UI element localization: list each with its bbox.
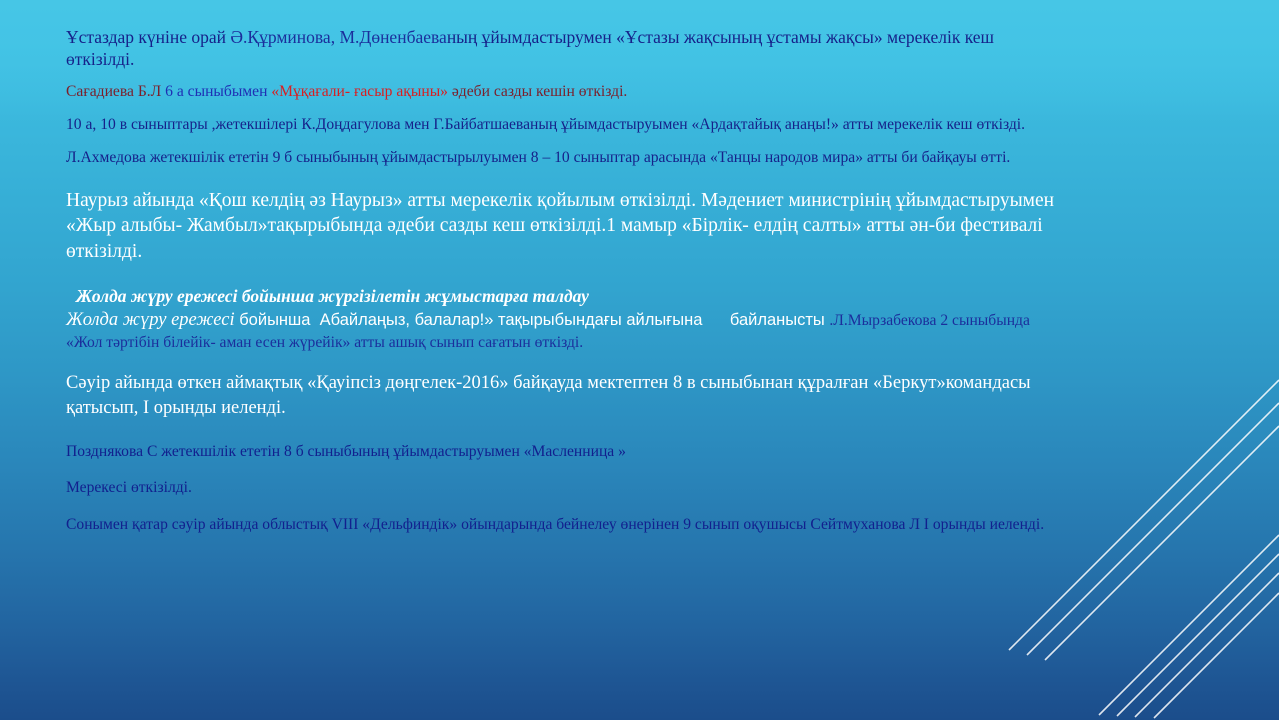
run-7-1: Жолда жүру ережесі <box>66 310 239 330</box>
paragraph-4: Л.Ахмедова жетекшілік ететін 9 б сыныбын… <box>66 148 1066 168</box>
run-2-1: Сағадиева Б.Л <box>66 83 165 100</box>
run-3-1: 10 а, 10 в сыныптары ,жетекшілері К.Доңд… <box>66 116 1025 133</box>
run-9-1: Позднякова С жетекшілік ететін 8 б сыныб… <box>66 443 626 460</box>
run-10-1: Мерекесі өткізілді. <box>66 479 192 496</box>
run-4-1: Л.Ахмедова жетекшілік ететін 9 б сыныбын… <box>66 149 1010 166</box>
run-8-1: Сәуір айында өткен аймақтық «Қауіпсіз дө… <box>66 373 1031 418</box>
run-1-2: Ә.Құрминова, М.Дөненбаева <box>230 27 446 47</box>
run-11-1: Сонымен қатар сәуір айында облыстық VIII… <box>66 516 1044 533</box>
paragraph-8: Сәуір айында өткен аймақтық «Қауіпсіз дө… <box>66 371 1066 421</box>
run-2-4: әдеби сазды кешін өткізді. <box>448 83 627 100</box>
paragraph-10: Мерекесі өткізілді. <box>66 478 1066 498</box>
paragraph-9: Позднякова С жетекшілік ететін 8 б сыныб… <box>66 442 1066 462</box>
run-7-2: бойынша Абайлаңыз, балалар!» тақырыбында… <box>239 311 829 329</box>
run-6-1: Жолда жүру ережесі бойынша жүргізілетін … <box>76 286 589 306</box>
paragraph-7: Жолда жүру ережесі бойынша Абайлаңыз, ба… <box>66 309 1066 353</box>
run-2-2: 6 а сыныбымен <box>165 83 267 100</box>
slide-text-body: Ұстаздар күніне орай Ә.Құрминова, М.Дөне… <box>66 26 1066 544</box>
paragraph-11: Сонымен қатар сәуір айында облыстық VIII… <box>66 515 1066 535</box>
paragraph-3: 10 а, 10 в сыныптары ,жетекшілері К.Доңд… <box>66 115 1066 135</box>
paragraph-1: Ұстаздар күніне орай Ә.Құрминова, М.Дөне… <box>66 26 1066 71</box>
run-5-1: Наурыз айында «Қош келдің әз Наурыз» атт… <box>66 190 1054 262</box>
presentation-slide: Ұстаздар күніне орай Ә.Құрминова, М.Дөне… <box>0 0 1279 720</box>
paragraph-5: Наурыз айында «Қош келдің әз Наурыз» атт… <box>66 188 1066 265</box>
run-2-3: «Мұқағали- ғасыр ақыны» <box>267 83 448 100</box>
run-1-1: Ұстаздар күніне орай <box>66 27 230 47</box>
paragraph-heading-traffic-rules: Жолда жүру ережесі бойынша жүргізілетін … <box>66 285 1066 307</box>
paragraph-2: Сағадиева Б.Л 6 а сыныбымен «Мұқағали- ғ… <box>66 82 1066 102</box>
